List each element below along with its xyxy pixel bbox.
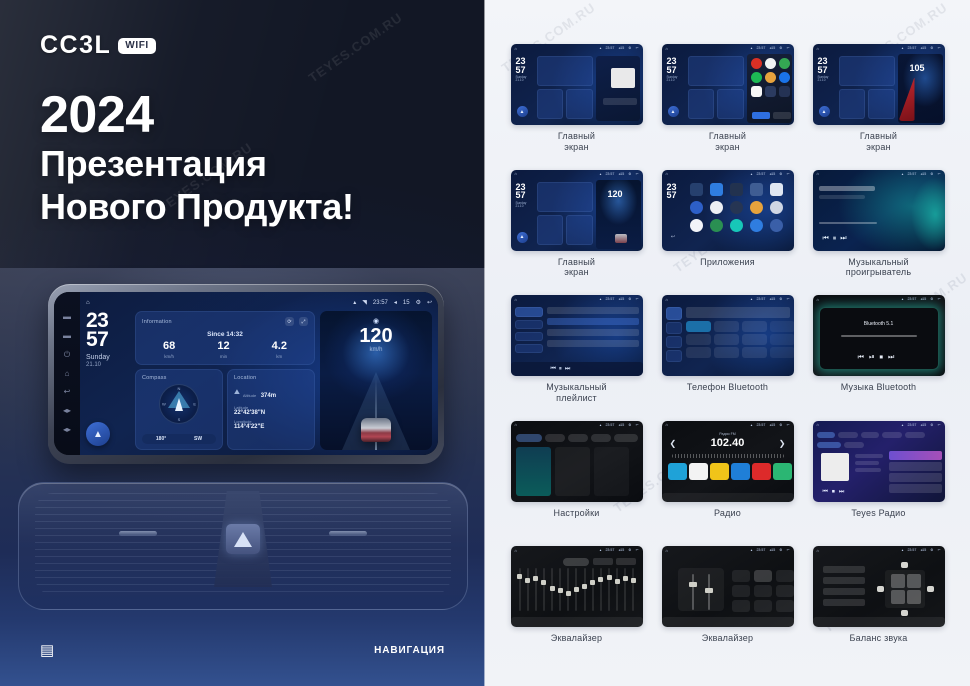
headline-line-2: Нового Продукта! bbox=[40, 186, 354, 228]
gallery-label: Музыка Bluetooth bbox=[841, 382, 917, 393]
navigation-arrow-icon: ▲ bbox=[819, 106, 830, 117]
compass-point-s: S bbox=[178, 417, 181, 422]
thumb-clock: 2357Sunday21.10 bbox=[516, 57, 527, 82]
back-icon: ↩ bbox=[668, 232, 679, 243]
thumbnail-bt-phone[interactable]: ⌂▴23:57◂15⚙↩ bbox=[662, 295, 794, 376]
clock-minutes: 57 bbox=[86, 330, 130, 349]
thumbnail-home-apps[interactable]: ⌂▴23:57◂15⚙↩ 2357Sunday21.10 bbox=[662, 44, 794, 125]
volume-up-icon[interactable]: ◂▸ bbox=[63, 426, 71, 434]
altitude-label: Altitude bbox=[243, 393, 256, 398]
information-card[interactable]: Information ⟳ ⤢ Since 14:32 bbox=[135, 311, 315, 365]
location-card[interactable]: Location ⛰ Altitude 374m bbox=[227, 369, 315, 450]
navigation-arrow-icon: ▲ bbox=[668, 106, 679, 117]
signal-icon: ▴ bbox=[353, 299, 356, 306]
brand-logo: CC3L WIFI bbox=[40, 33, 156, 58]
back-icon[interactable]: ↩ bbox=[64, 388, 71, 396]
stat-value: 68 bbox=[163, 341, 175, 352]
home-icon: ⌂ bbox=[515, 422, 517, 427]
stat-item: 4.2 km bbox=[272, 341, 287, 359]
presentation-slide: TEYES.COM.RU TEYES.COM.RU TEYES.COM.RU C… bbox=[0, 0, 970, 686]
home-icon: ⌂ bbox=[666, 297, 668, 302]
clock-date: 21.10 bbox=[86, 362, 130, 369]
bt-title: Bluetooth 5.1 bbox=[813, 321, 945, 327]
compass-point-e: E bbox=[193, 402, 196, 407]
home-icon: ⌂ bbox=[515, 297, 517, 302]
clock-column: 23 57 Sunday 21.10 ▲ bbox=[86, 311, 130, 450]
information-stats: 68 km/h 12 min 4.2 bbox=[142, 341, 308, 359]
stat-unit: min bbox=[217, 354, 229, 359]
information-header: Information ⟳ ⤢ bbox=[142, 317, 308, 326]
compass-card[interactable]: Compass N E S W bbox=[135, 369, 223, 450]
gallery-label: Телефон Bluetooth bbox=[687, 382, 768, 393]
compass-title: Compass bbox=[142, 375, 216, 381]
gallery-label: Баланс звука bbox=[850, 633, 908, 644]
stat-unit: km/h bbox=[163, 354, 175, 359]
longitude-value: 114°4'22"E bbox=[234, 424, 308, 430]
home-screen-body: 23 57 Sunday 21.10 ▲ Information bbox=[86, 308, 432, 450]
home-icon: ⌂ bbox=[515, 548, 517, 553]
head-unit-screen[interactable]: ▬ ▬ ⏻ ⌂ ↩ ◂▸ ◂▸ ⌂ ▴ ◥ bbox=[54, 292, 438, 455]
volume-level: 15 bbox=[403, 300, 410, 306]
hazard-triangle-icon bbox=[234, 532, 252, 547]
stat-value: 12 bbox=[217, 341, 229, 352]
stat-value: 4.2 bbox=[272, 341, 287, 352]
gallery-grid: ⌂▴23:57◂15⚙↩ 2357Sunday21.10 ▲ Главныйэк… bbox=[505, 44, 950, 668]
latitude-value: 22°42'38"N bbox=[234, 410, 308, 416]
gallery-item[interactable]: ⌂▴23:57◂15⚙↩ 2357Sunday21.10 ▲ Главныйэк… bbox=[505, 44, 648, 166]
center-console bbox=[18, 482, 468, 610]
information-since: Since 14:32 bbox=[142, 331, 308, 338]
thumb-clock: 2357Sunday21.10 bbox=[667, 57, 678, 82]
stat-item: 68 km/h bbox=[163, 341, 175, 359]
thumbnail-equalizer-simple[interactable]: ⌂▴23:57◂15⚙↩ bbox=[662, 546, 794, 627]
expand-icon[interactable]: ⤢ bbox=[299, 317, 308, 326]
gallery-item[interactable]: ⌂▴23:57◂15⚙↩ 2357Sunday21.10 bbox=[656, 44, 799, 166]
compass-point-w: W bbox=[162, 402, 166, 407]
speed-unit: km/h bbox=[369, 347, 382, 353]
gallery-label: Радио bbox=[714, 508, 741, 519]
driving-view[interactable]: ◉ 120 km/h bbox=[320, 311, 432, 450]
thumbnail-home-speed[interactable]: ⌂▴23:57◂15⚙↩ 2357Sunday21.10 120 ▲ bbox=[511, 170, 643, 251]
gear-icon[interactable]: ⚙ bbox=[416, 299, 421, 306]
home-icon: ⌂ bbox=[666, 548, 668, 553]
home-icon[interactable]: ⌂ bbox=[65, 370, 70, 378]
navigation-arrow-icon: ▲ bbox=[517, 106, 528, 117]
thumbnail-bt-music[interactable]: ⌂▴23:57◂15⚙↩ Bluetooth 5.1 ⏮⏯⏹⏭ bbox=[813, 295, 945, 376]
clock-weekday: Sunday bbox=[86, 354, 130, 363]
thumbnail-sound-balance[interactable]: ⌂▴23:57◂15⚙↩ bbox=[813, 546, 945, 627]
thumbnail-home-media[interactable]: ⌂▴23:57◂15⚙↩ 2357Sunday21.10 ▲ bbox=[511, 44, 643, 125]
gallery-item[interactable]: ⌂▴23:57◂15⚙↩ ⏮⏸⏭ Музыкальныйпроигрывател… bbox=[807, 170, 950, 292]
heading-direction: SW bbox=[194, 436, 202, 442]
compass-dial: N E S W bbox=[159, 384, 199, 424]
widgets-row: Compass N E S W bbox=[135, 369, 315, 450]
navigation-arrow-icon: ▲ bbox=[517, 232, 528, 243]
volume-down-icon[interactable]: ◂▸ bbox=[63, 407, 71, 415]
compass-point-n: N bbox=[178, 386, 181, 391]
power-icon[interactable]: ⏻ bbox=[64, 351, 70, 359]
thumbnail-teyes-radio[interactable]: ⌂▴23:57◂15⚙↩ ⏮⏹⏭ bbox=[813, 421, 945, 502]
stat-unit: km bbox=[272, 354, 287, 359]
layers-icon[interactable]: ▤ bbox=[40, 643, 54, 658]
head-unit-bezel: ▬ ▬ ⏻ ⌂ ↩ ◂▸ ◂▸ ⌂ ▴ ◥ bbox=[48, 284, 444, 464]
side-button-rail[interactable]: ▬ ▬ ⏻ ⌂ ↩ ◂▸ ◂▸ bbox=[54, 292, 80, 455]
home-icon: ⌂ bbox=[817, 46, 819, 51]
gallery-label: Главныйэкран bbox=[558, 131, 595, 153]
gallery-item[interactable]: ⌂▴23:57◂15⚙↩ bbox=[656, 546, 799, 668]
home-icon: ⌂ bbox=[817, 422, 819, 427]
gallery-item[interactable]: ⌂▴23:57◂15⚙↩ 2357 bbox=[656, 170, 799, 292]
footer-label: НАВИГАЦИЯ bbox=[374, 645, 445, 656]
speedometer-icon: ◉ bbox=[373, 317, 379, 325]
status-time: 23:57 bbox=[373, 300, 388, 306]
console-slot-left bbox=[119, 531, 157, 536]
gallery-item[interactable]: ⌂▴23:57◂15⚙↩ 2357Sunday21.10 105 ▲ Главн… bbox=[807, 44, 950, 166]
home-icon: ⌂ bbox=[817, 297, 819, 302]
gallery-label: Teyes Радио bbox=[851, 508, 905, 519]
radio-band: Радио FM bbox=[662, 432, 794, 436]
information-actions[interactable]: ⟳ ⤢ bbox=[285, 317, 308, 326]
volume-icon[interactable]: ◂ bbox=[394, 299, 397, 306]
home-icon: ⌂ bbox=[817, 171, 819, 176]
thumbnail-home-drive[interactable]: ⌂▴23:57◂15⚙↩ 2357Sunday21.10 105 ▲ bbox=[813, 44, 945, 125]
hazard-button[interactable] bbox=[226, 524, 260, 554]
wifi-icon: ◥ bbox=[362, 299, 367, 306]
gallery-item[interactable]: ⌂▴23:57◂15⚙↩ ⏮⏹⏭ bbox=[807, 421, 950, 543]
gallery-label: Приложения bbox=[700, 257, 755, 268]
gallery-label: Главныйэкран bbox=[860, 131, 897, 153]
thumbnail-apps[interactable]: ⌂▴23:57◂15⚙↩ 2357 bbox=[662, 170, 794, 251]
compass-needle bbox=[175, 398, 183, 411]
gallery-item[interactable]: ⌂▴23:57◂15⚙↩ Bluetooth 5.1 ⏮⏯⏹⏭ Музыка B… bbox=[807, 295, 950, 417]
thumb-clock: 2357Sunday21.10 bbox=[516, 183, 527, 208]
radio-frequency: 102.40 bbox=[662, 437, 794, 449]
gallery-item[interactable]: ⌂▴23:57◂15⚙↩ Баланс звука bbox=[807, 546, 950, 668]
stat-item: 12 min bbox=[217, 341, 229, 359]
car-dashboard: ▬ ▬ ⏻ ⌂ ↩ ◂▸ ◂▸ ⌂ ▴ ◥ bbox=[0, 268, 485, 686]
navigation-arrow-icon[interactable]: ▲ bbox=[86, 422, 110, 446]
mountain-icon: ⛰ bbox=[234, 389, 240, 397]
gallery-item[interactable]: ⌂▴23:57◂15⚙↩ bbox=[656, 295, 799, 417]
brand-name: CC3L bbox=[40, 33, 111, 58]
thumbnail-radio[interactable]: ⌂▴23:57◂15⚙↩ Радио FM 102.40 ❮ ❯ bbox=[662, 421, 794, 502]
status-bar-right: ▴ ◥ 23:57 ◂ 15 ⚙ ↩ bbox=[353, 299, 432, 306]
prev-station-icon[interactable]: ❮ bbox=[670, 439, 677, 448]
latitude-row: Latitude 22°42'38"N bbox=[234, 405, 308, 416]
home-icon: ⌂ bbox=[817, 548, 819, 553]
home-icon[interactable]: ⌂ bbox=[86, 300, 90, 306]
gallery-label: Главныйэкран bbox=[709, 131, 746, 153]
gallery-item[interactable]: ⌂▴23:57◂15⚙↩ bbox=[505, 546, 648, 668]
headline-year: 2024 bbox=[40, 88, 354, 143]
thumbnail-equalizer-bands[interactable]: ⌂▴23:57◂15⚙↩ bbox=[511, 546, 643, 627]
thumbnail-settings[interactable]: ⌂▴23:57◂15⚙↩ bbox=[511, 421, 643, 502]
thumb-speed: 105 bbox=[910, 63, 925, 73]
widgets-column: Information ⟳ ⤢ Since 14:32 bbox=[135, 311, 315, 450]
thumb-clock: 2357 bbox=[667, 183, 677, 200]
heading-degrees: 180° bbox=[156, 436, 166, 442]
home-icon: ⌂ bbox=[515, 46, 517, 51]
home-icon: ⌂ bbox=[666, 46, 668, 51]
next-station-icon[interactable]: ❯ bbox=[779, 439, 786, 448]
thumb-speed: 120 bbox=[608, 189, 623, 199]
compass-heading: 180° SW bbox=[142, 434, 216, 444]
home-icon: ⌂ bbox=[666, 171, 668, 176]
car-graphic bbox=[361, 418, 391, 442]
back-icon[interactable]: ↩ bbox=[427, 299, 432, 306]
gallery-item[interactable]: ⌂▴23:57◂15⚙↩ Настройки bbox=[505, 421, 648, 543]
home-icon: ⌂ bbox=[515, 171, 517, 176]
thumb-clock: 2357Sunday21.10 bbox=[818, 57, 829, 82]
speed-value: 120 bbox=[359, 326, 392, 346]
wifi-badge: WIFI bbox=[118, 38, 156, 54]
location-title: Location bbox=[234, 375, 308, 381]
status-bar: ⌂ ▴ ◥ 23:57 ◂ 15 ⚙ ↩ bbox=[86, 297, 432, 308]
eject-icon[interactable]: ▬ bbox=[63, 332, 71, 340]
thumbnail-music-player[interactable]: ⌂▴23:57◂15⚙↩ ⏮⏸⏭ bbox=[813, 170, 945, 251]
headline-line-1: Презентация bbox=[40, 143, 354, 185]
watermark: TEYES.COM.RU bbox=[306, 10, 406, 86]
console-slot-right bbox=[329, 531, 367, 536]
home-icon: ⌂ bbox=[666, 422, 668, 427]
refresh-icon[interactable]: ⟳ bbox=[285, 317, 294, 326]
gallery-label: Настройки bbox=[554, 508, 600, 519]
gallery-label: Музыкальныйпроигрыватель bbox=[846, 257, 911, 279]
thumbnail-music-playlist[interactable]: ⌂▴23:57◂15⚙↩ ⏮⏸⏭ bbox=[511, 295, 643, 376]
mute-icon[interactable]: ▬ bbox=[63, 313, 71, 321]
equalizer-sliders[interactable] bbox=[519, 568, 635, 611]
altitude-row: ⛰ Altitude 374m bbox=[234, 384, 308, 402]
gallery-item[interactable]: ⌂▴23:57◂15⚙↩ 2357Sunday21.10 120 ▲ Главн… bbox=[505, 170, 648, 292]
information-title: Information bbox=[142, 319, 172, 325]
longitude-row: Longitude 114°4'22"E bbox=[234, 419, 308, 430]
gallery-label: Эквалайзер bbox=[551, 633, 602, 644]
gallery-item[interactable]: ⌂▴23:57◂15⚙↩ ⏮⏸⏭ Музыкальныйплейлист bbox=[505, 295, 648, 417]
gallery-label: Музыкальныйплейлист bbox=[546, 382, 606, 404]
gallery-label: Главныйэкран bbox=[558, 257, 595, 279]
hero-footer: ▤ НАВИГАЦИЯ bbox=[0, 626, 485, 686]
gallery-label: Эквалайзер bbox=[702, 633, 753, 644]
altitude-value: 374m bbox=[261, 393, 276, 399]
hero-panel: TEYES.COM.RU TEYES.COM.RU TEYES.COM.RU C… bbox=[0, 0, 485, 686]
head-unit-ui: ⌂ ▴ ◥ 23:57 ◂ 15 ⚙ ↩ bbox=[80, 292, 438, 455]
gallery-item[interactable]: ⌂▴23:57◂15⚙↩ Радио FM 102.40 ❮ ❯ bbox=[656, 421, 799, 543]
headline: 2024 Презентация Нового Продукта! bbox=[40, 88, 354, 228]
screenshot-gallery: TEYES.COM.RU TEYES.COM.RU TEYES.COM.RU T… bbox=[485, 0, 970, 686]
